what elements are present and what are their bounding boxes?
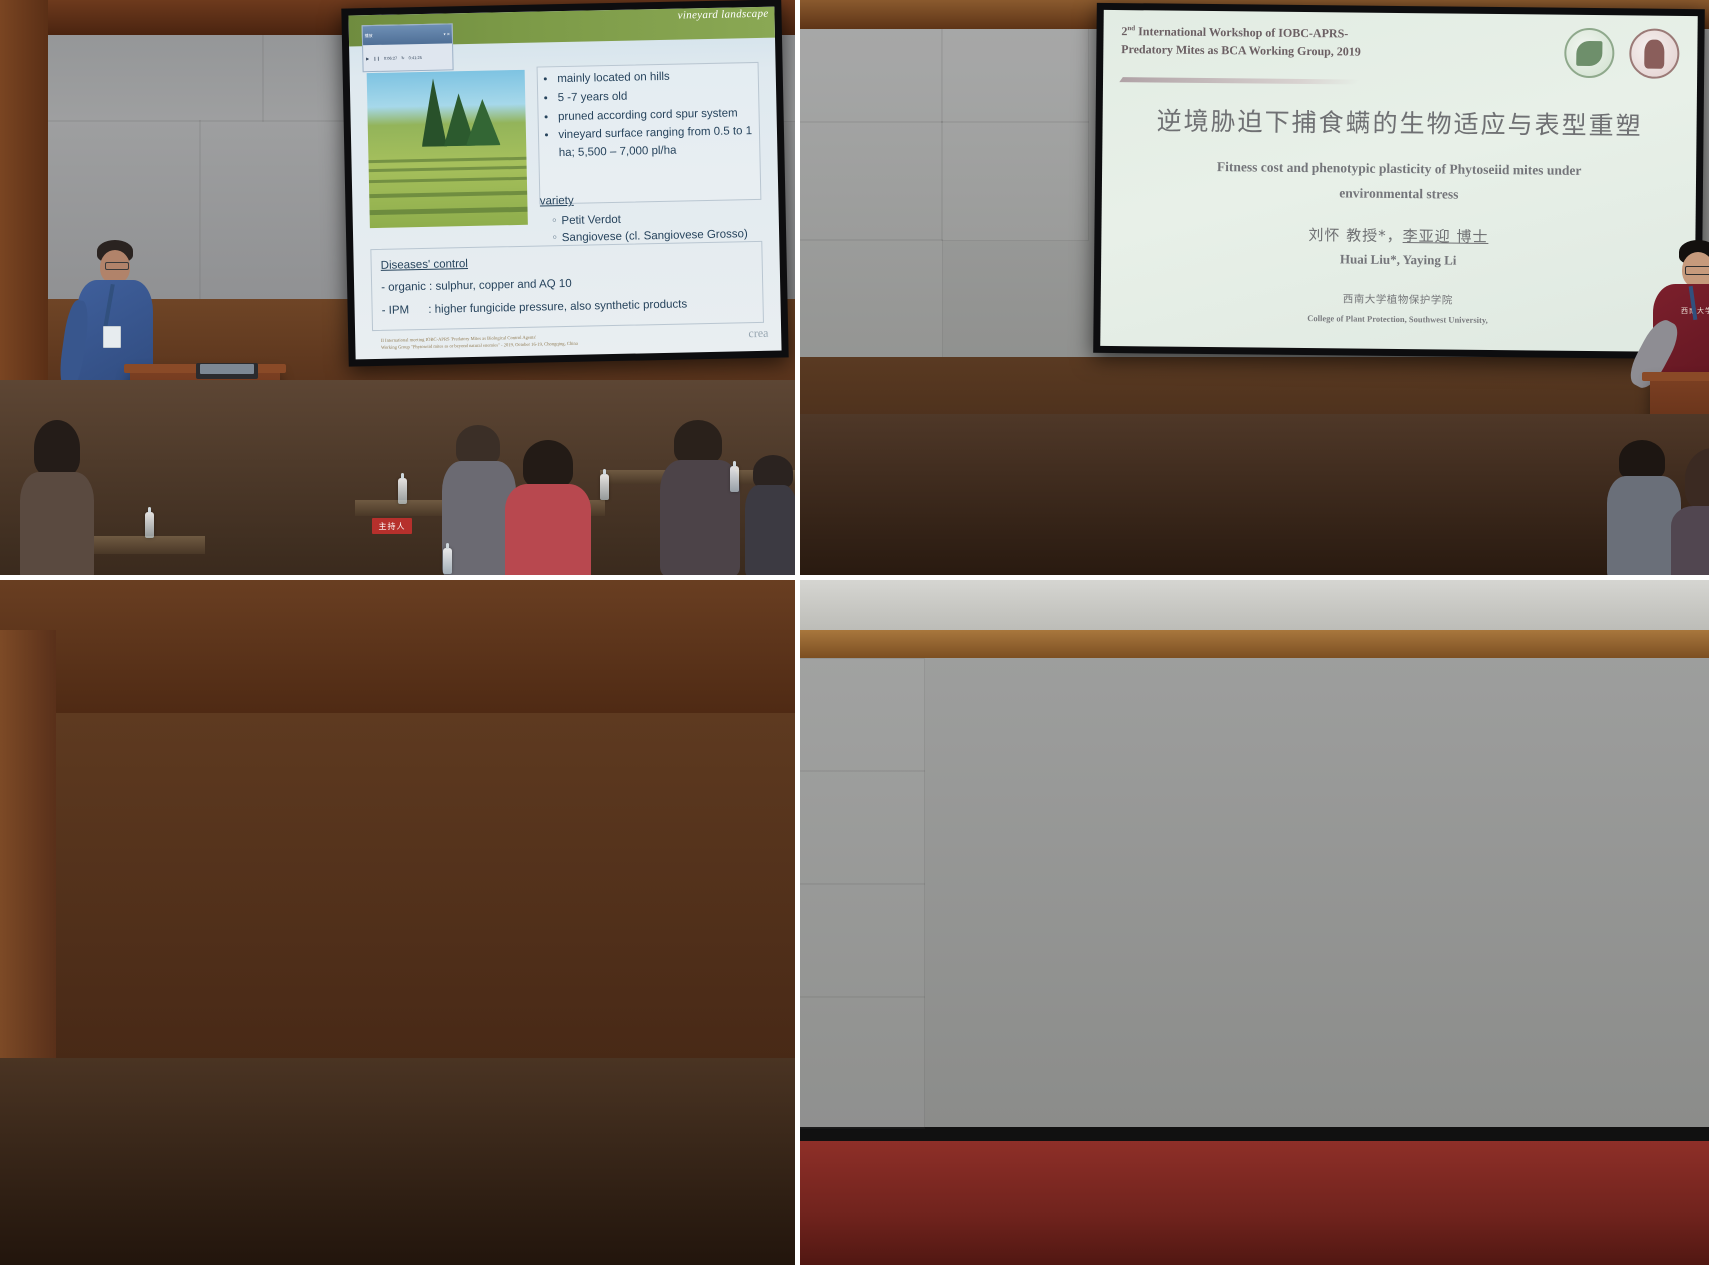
- slide-vineyard-landscape: vineyard landscape 播放 ▾ ✕ ▶ ❙❙ 0:06:27 ↻…: [348, 7, 781, 360]
- photo-collage: vineyard landscape 播放 ▾ ✕ ▶ ❙❙ 0:06:27 ↻…: [0, 0, 1709, 1265]
- slide1-footer: II International meeting IOBC-APRS 'Pred…: [381, 331, 713, 352]
- audience-member: [745, 455, 795, 575]
- ceremony-hall-background: [795, 575, 1709, 1265]
- audience-seating: [795, 414, 1709, 575]
- replay-icon[interactable]: ↻: [401, 55, 404, 60]
- pause-icon[interactable]: ❙❙: [373, 55, 380, 60]
- slide2-affiliation-en: College of Plant Protection, Southwest U…: [1148, 311, 1647, 326]
- audience-member: [660, 420, 740, 575]
- glasses-icon: [1685, 266, 1709, 275]
- slide2-title-en: Fitness cost and phenotypic plasticity o…: [1149, 155, 1648, 210]
- slide1-bullet-box: mainly located on hills 5 -7 years old p…: [537, 62, 761, 204]
- diseases-heading: Diseases' control: [380, 253, 468, 277]
- media-time-elapsed: 0:06:27: [384, 55, 397, 60]
- slide2-authors-en: Huai Liu*, Yaying Li: [1149, 249, 1648, 270]
- bullet-item: vineyard surface ranging from 0.5 to 1 h…: [558, 124, 753, 164]
- slide2-ribbon: [1119, 77, 1360, 84]
- upper-wall: [0, 575, 795, 713]
- water-bottle: [730, 466, 739, 492]
- laptop: [196, 363, 258, 379]
- variety-heading: variety: [540, 189, 762, 211]
- close-icon[interactable]: ▾ ✕: [444, 32, 451, 37]
- media-player-window[interactable]: 播放 ▾ ✕ ▶ ❙❙ 0:06:27 ↻ 0:41:25: [361, 24, 453, 73]
- slide2-title-cn: 逆境胁迫下捕食螨的生物适应与表型重塑: [1138, 101, 1661, 142]
- slide1-banner-title: vineyard landscape: [678, 8, 769, 22]
- media-player-title: 播放: [365, 33, 373, 39]
- author-cn-1: 刘怀 教授*，: [1308, 226, 1402, 245]
- slide2-header-sup: nd: [1127, 25, 1135, 33]
- glasses-icon: [105, 262, 129, 270]
- play-icon[interactable]: ▶: [366, 56, 369, 61]
- collage-divider-horizontal: [0, 575, 1709, 580]
- media-time-total: 0:41:25: [409, 55, 422, 60]
- ceiling: [795, 575, 1709, 637]
- crea-logo: crea: [748, 325, 768, 340]
- wood-trim: [795, 630, 1709, 658]
- slide-title-phytoseiid: 2nd International Workshop of IOBC-APRS-…: [1100, 10, 1697, 352]
- iobc-leaf-logo: [1564, 28, 1615, 79]
- water-bottle: [145, 512, 154, 538]
- slide2-header-line1: International Workshop of IOBC-APRS-: [1135, 25, 1348, 41]
- collage-divider-vertical: [795, 0, 800, 1265]
- panel-top-left: vineyard landscape 播放 ▾ ✕ ▶ ❙❙ 0:06:27 ↻…: [0, 0, 795, 575]
- water-bottle: [398, 478, 407, 504]
- vineyard-photo: [367, 70, 528, 228]
- stone-wall: [795, 658, 1709, 1127]
- audience-seating: [0, 1058, 795, 1265]
- media-player-titlebar[interactable]: 播放 ▾ ✕: [362, 25, 452, 46]
- slide1-diseases-box: Diseases' control - organic : sulphur, c…: [370, 241, 764, 332]
- slide2-title-en-line2: environmental stress: [1149, 180, 1648, 210]
- panel-bottom-right: 第二届国际生物防治组织亚太区生物防治用食螨 工作组研讨会 The 2nd Int…: [795, 575, 1709, 1265]
- slide2-header-line2: Predatory Mites as BCA Working Group, 20…: [1121, 42, 1361, 59]
- panel-bottom-left: Demographic Indicators (PAK). Total Popu…: [0, 575, 795, 1265]
- media-player-controls[interactable]: ▶ ❙❙ 0:06:27 ↻ 0:41:25: [363, 43, 453, 71]
- water-bottle: [600, 474, 609, 500]
- table-nameplate: 主持人: [372, 518, 412, 534]
- projection-screen-frame: vineyard landscape 播放 ▾ ✕ ▶ ❙❙ 0:06:27 ↻…: [341, 0, 788, 367]
- water-bottle: [443, 548, 452, 574]
- audience-member: [505, 440, 591, 575]
- author-cn-2: 李亚迎 博士: [1403, 227, 1489, 246]
- swu-seal-logo: [1629, 29, 1680, 80]
- slide2-header: 2nd International Workshop of IOBC-APRS-…: [1121, 24, 1490, 63]
- panel-top-right: 2nd International Workshop of IOBC-APRS-…: [795, 0, 1709, 575]
- audience-member: [1667, 448, 1709, 575]
- projection-screen-frame: 2nd International Workshop of IOBC-APRS-…: [1093, 3, 1705, 359]
- slide2-affiliation-cn: 西南大学植物保护学院: [1148, 289, 1647, 309]
- slide1-variety-block: variety Petit Verdot Sangiovese (cl. San…: [540, 189, 763, 247]
- stage-floor: [795, 1141, 1709, 1265]
- slide2-authors-cn: 刘怀 教授*，李亚迎 博士: [1149, 222, 1648, 248]
- audience-member: [18, 420, 98, 575]
